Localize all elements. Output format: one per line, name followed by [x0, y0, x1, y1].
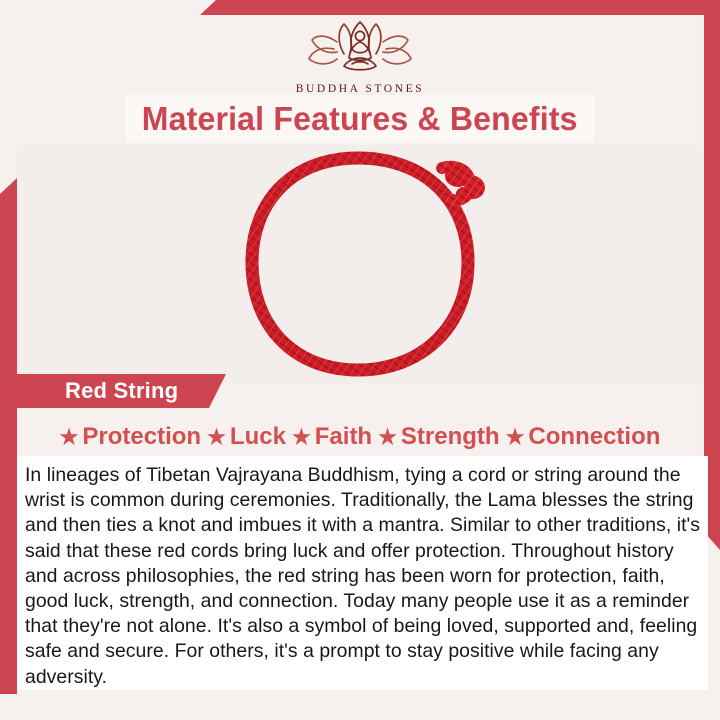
brand-logo: BUDDHA STONES — [0, 16, 720, 95]
section-ribbon: Red String — [17, 374, 226, 408]
page-title: Material Features & Benefits — [125, 95, 595, 143]
left-red-bar — [0, 178, 17, 720]
keyword-label: Luck — [230, 423, 286, 451]
red-string-bracelet-image — [230, 150, 490, 380]
keyword-label: Connection — [528, 423, 660, 451]
ribbon-label: Red String — [65, 378, 178, 404]
benefit-keywords: ★ Protection ★ Luck ★ Faith ★ Strength ★… — [17, 419, 703, 455]
keyword-label: Faith — [315, 423, 372, 451]
page-title-text: Material Features & Benefits — [142, 100, 578, 138]
star-icon: ★ — [60, 427, 79, 448]
lotus-meditation-icon — [304, 16, 416, 80]
keyword-label: Strength — [401, 423, 500, 451]
description-text: In lineages of Tibetan Vajrayana Buddhis… — [25, 463, 700, 690]
star-icon: ★ — [292, 427, 311, 448]
keyword-luck: ★ Luck — [207, 423, 286, 451]
keyword-strength: ★ Strength — [378, 423, 500, 451]
keyword-connection: ★ Connection — [506, 423, 661, 451]
keyword-label: Protection — [82, 423, 201, 451]
star-icon: ★ — [378, 427, 397, 448]
top-red-band — [200, 0, 720, 15]
star-icon: ★ — [506, 427, 525, 448]
brand-name: BUDDHA STONES — [296, 83, 424, 95]
star-icon: ★ — [207, 427, 226, 448]
bottom-strip — [0, 694, 720, 720]
keyword-faith: ★ Faith — [292, 423, 372, 451]
description-panel: In lineages of Tibetan Vajrayana Buddhis… — [17, 456, 708, 690]
hero-image-area — [17, 145, 703, 385]
keyword-protection: ★ Protection — [60, 423, 202, 451]
infographic-page: BUDDHA STONES Material Features & Benefi… — [0, 0, 720, 720]
